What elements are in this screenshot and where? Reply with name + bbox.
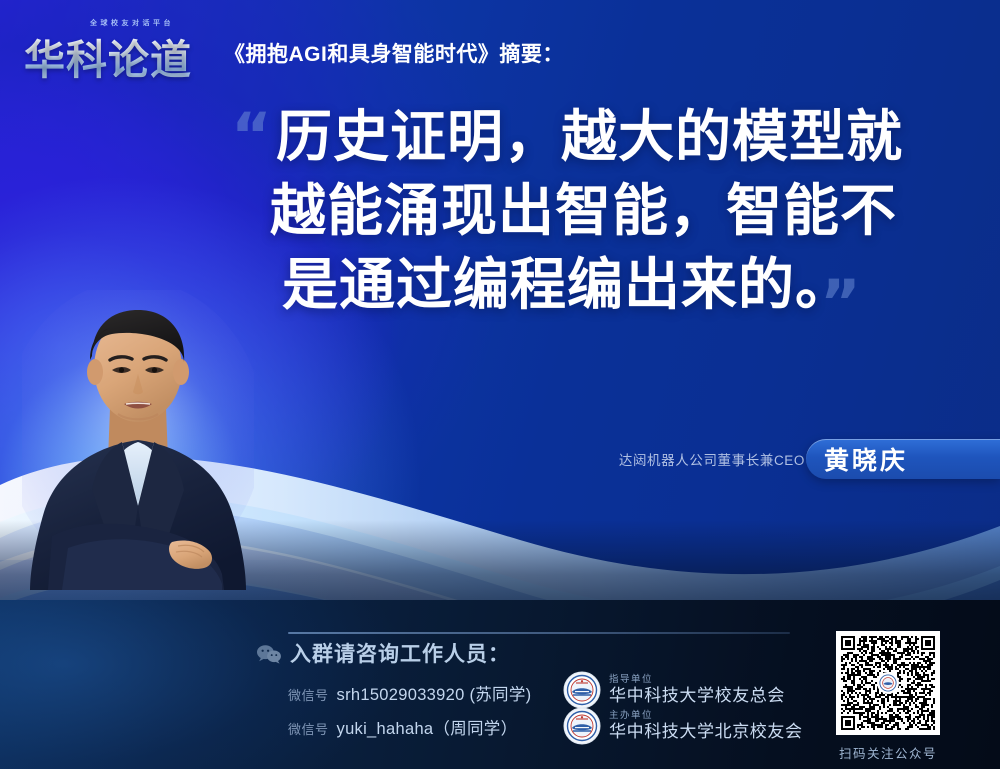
wechat-label: 微信号	[288, 719, 329, 738]
org-row: 指导单位 华中科技大学校友总会	[562, 670, 785, 710]
org-name: 华中科技大学北京校友会	[609, 722, 803, 742]
quote-line: 历史证明，越大的模型就	[276, 100, 966, 174]
wechat-label: 微信号	[288, 685, 329, 704]
join-group-title: 入群请咨询工作人员：	[290, 638, 510, 668]
quote-open-mark: “	[231, 105, 272, 167]
speaker-portrait	[22, 290, 254, 590]
brand-wordmark: 华科论道	[24, 26, 192, 86]
org-text: 主办单位 华中科技大学北京校友会	[609, 710, 803, 742]
wechat-id: yuki_hahaha（周同学）	[337, 715, 518, 739]
quote-close-mark: ”	[820, 272, 861, 334]
wechat-id: srh15029033920 (苏同学)	[337, 681, 532, 705]
speaker-name-badge: 黄晓庆	[806, 439, 1000, 479]
wechat-contact-row: 微信号 srh15029033920 (苏同学)	[288, 681, 531, 705]
qr-block: 扫码关注公众号	[836, 631, 940, 762]
poster-canvas: 全球校友对话平台 华科论道 《拥抱AGI和具身智能时代》摘要：	[0, 0, 1000, 769]
footer-divider	[288, 632, 790, 634]
university-seal-icon	[879, 674, 897, 692]
qr-caption: 扫码关注公众号	[836, 743, 940, 762]
org-row: 主办单位 华中科技大学北京校友会	[562, 706, 803, 746]
wechat-icon	[256, 644, 282, 664]
speaker-role: 达闼机器人公司董事长兼CEO	[619, 449, 805, 469]
wechat-contact-row: 微信号 yuki_hahaha（周同学）	[288, 715, 517, 739]
quote-line: 越能涌现出智能，智能不	[270, 174, 966, 248]
page-title: 《拥抱AGI和具身智能时代》摘要：	[224, 38, 564, 68]
university-seal-icon	[562, 670, 602, 710]
qr-code[interactable]	[836, 631, 940, 735]
quote-block: 历史证明，越大的模型就 越能涌现出智能，智能不 是通过编程编出来的。	[276, 100, 966, 322]
org-kind: 主办单位	[609, 710, 803, 721]
org-text: 指导单位 华中科技大学校友总会	[609, 674, 785, 706]
university-seal-icon	[562, 706, 602, 746]
qr-center-logo	[877, 672, 899, 694]
quote-line: 是通过编程编出来的。	[282, 248, 966, 322]
org-name: 华中科技大学校友总会	[609, 686, 785, 706]
poster-header: 全球校友对话平台 华科论道 《拥抱AGI和具身智能时代》摘要：	[0, 0, 1000, 92]
brand-logo: 全球校友对话平台 华科论道	[24, 16, 210, 72]
org-kind: 指导单位	[609, 674, 785, 685]
speaker-name: 黄晓庆	[806, 441, 908, 477]
